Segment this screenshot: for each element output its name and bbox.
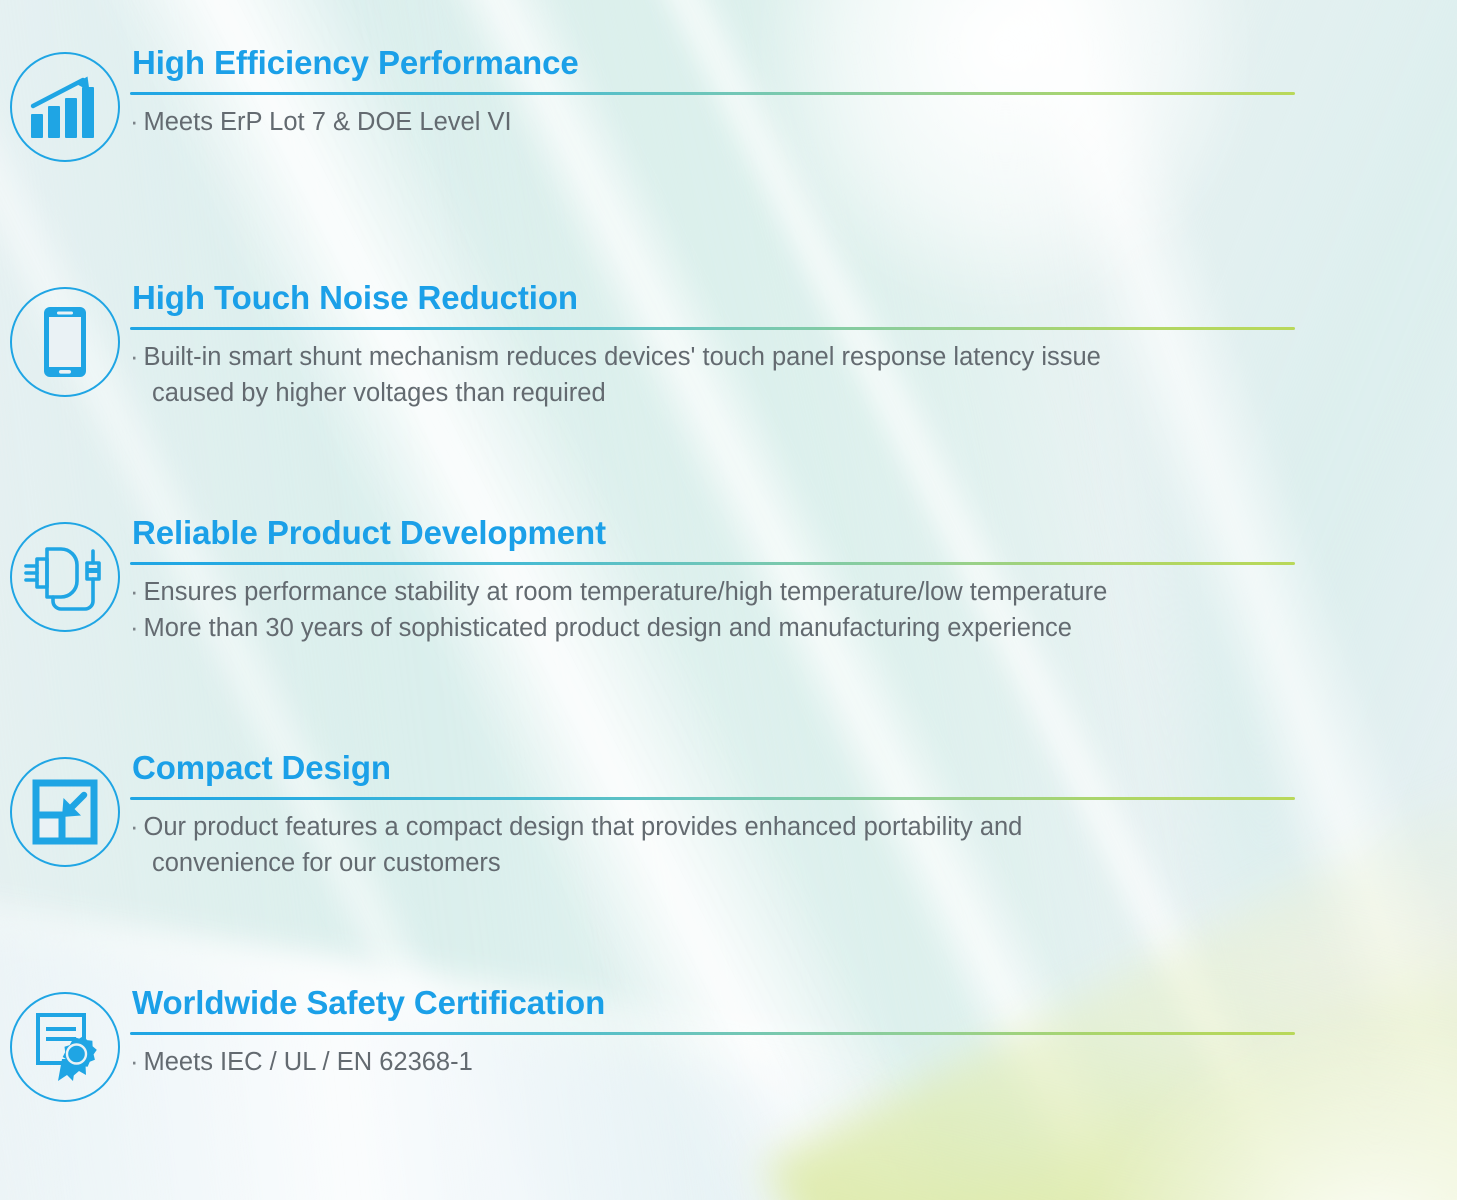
feature-icon-container — [0, 46, 130, 162]
compact-resize-icon — [10, 757, 120, 867]
feature-highlights-page: High Efficiency Performance ·Meets ErP L… — [0, 0, 1457, 1200]
feature-bullets: ·Meets IEC / UL / EN 62368-1 — [130, 1044, 1377, 1080]
bullet-item: ·Built-in smart shunt mechanism reduces … — [130, 339, 1377, 411]
feature-item-high-efficiency-performance: High Efficiency Performance ·Meets ErP L… — [0, 46, 1457, 162]
bullet-text: Meets IEC / UL / EN 62368-1 — [144, 1048, 473, 1076]
feature-divider — [130, 327, 1295, 330]
bar-chart-growth-icon — [10, 52, 120, 162]
feature-title: Reliable Product Development — [132, 516, 1377, 549]
feature-item-worldwide-safety-certification: Worldwide Safety Certification ·Meets IE… — [0, 986, 1457, 1102]
feature-text-container: High Touch Noise Reduction ·Built-in sma… — [130, 281, 1457, 411]
bullet-item: ·Meets ErP Lot 7 & DOE Level VI — [130, 104, 1377, 140]
feature-text-container: High Efficiency Performance ·Meets ErP L… — [130, 46, 1457, 140]
feature-text-container: Compact Design ·Our product features a c… — [130, 751, 1457, 881]
smartphone-icon — [10, 287, 120, 397]
bullet-marker: · — [130, 614, 139, 642]
bullet-item: ·Our product features a compact design t… — [130, 809, 1377, 881]
feature-title: Worldwide Safety Certification — [132, 986, 1377, 1019]
bullet-text: More than 30 years of sophisticated prod… — [144, 614, 1072, 642]
feature-icon-container — [0, 751, 130, 867]
feature-icon-container — [0, 516, 130, 632]
feature-bullets: ·Our product features a compact design t… — [130, 809, 1377, 881]
feature-bullets: ·Built-in smart shunt mechanism reduces … — [130, 339, 1377, 411]
feature-text-container: Worldwide Safety Certification ·Meets IE… — [130, 986, 1457, 1080]
feature-icon-container — [0, 986, 130, 1102]
feature-icon-container — [0, 281, 130, 397]
feature-list: High Efficiency Performance ·Meets ErP L… — [0, 0, 1457, 1200]
bullet-text: Ensures performance stability at room te… — [144, 578, 1108, 606]
feature-bullets: ·Meets ErP Lot 7 & DOE Level VI — [130, 104, 1377, 140]
feature-title: High Touch Noise Reduction — [132, 281, 1377, 314]
feature-title: High Efficiency Performance — [132, 46, 1377, 79]
power-adapter-icon — [10, 522, 120, 632]
bullet-item: ·Ensures performance stability at room t… — [130, 574, 1377, 610]
feature-title: Compact Design — [132, 751, 1377, 784]
bullet-text: Meets ErP Lot 7 & DOE Level VI — [144, 108, 512, 136]
feature-bullets: ·Ensures performance stability at room t… — [130, 574, 1377, 646]
bullet-marker: · — [130, 1048, 139, 1076]
bullet-text-continued: convenience for our customers — [130, 845, 1377, 881]
bullet-text: Built-in smart shunt mechanism reduces d… — [144, 343, 1101, 371]
feature-divider — [130, 92, 1295, 95]
feature-divider — [130, 797, 1295, 800]
bullet-item: ·More than 30 years of sophisticated pro… — [130, 610, 1377, 646]
bullet-marker: · — [130, 578, 139, 606]
feature-item-compact-design: Compact Design ·Our product features a c… — [0, 751, 1457, 881]
certificate-seal-icon — [10, 992, 120, 1102]
feature-text-container: Reliable Product Development ·Ensures pe… — [130, 516, 1457, 646]
feature-divider — [130, 1032, 1295, 1035]
bullet-text-continued: caused by higher voltages than required — [130, 375, 1377, 411]
bullet-item: ·Meets IEC / UL / EN 62368-1 — [130, 1044, 1377, 1080]
bullet-marker: · — [130, 343, 139, 371]
bullet-marker: · — [130, 108, 139, 136]
feature-item-reliable-product-development: Reliable Product Development ·Ensures pe… — [0, 516, 1457, 646]
feature-divider — [130, 562, 1295, 565]
bullet-text: Our product features a compact design th… — [144, 813, 1023, 841]
bullet-marker: · — [130, 813, 139, 841]
feature-item-high-touch-noise-reduction: High Touch Noise Reduction ·Built-in sma… — [0, 281, 1457, 411]
